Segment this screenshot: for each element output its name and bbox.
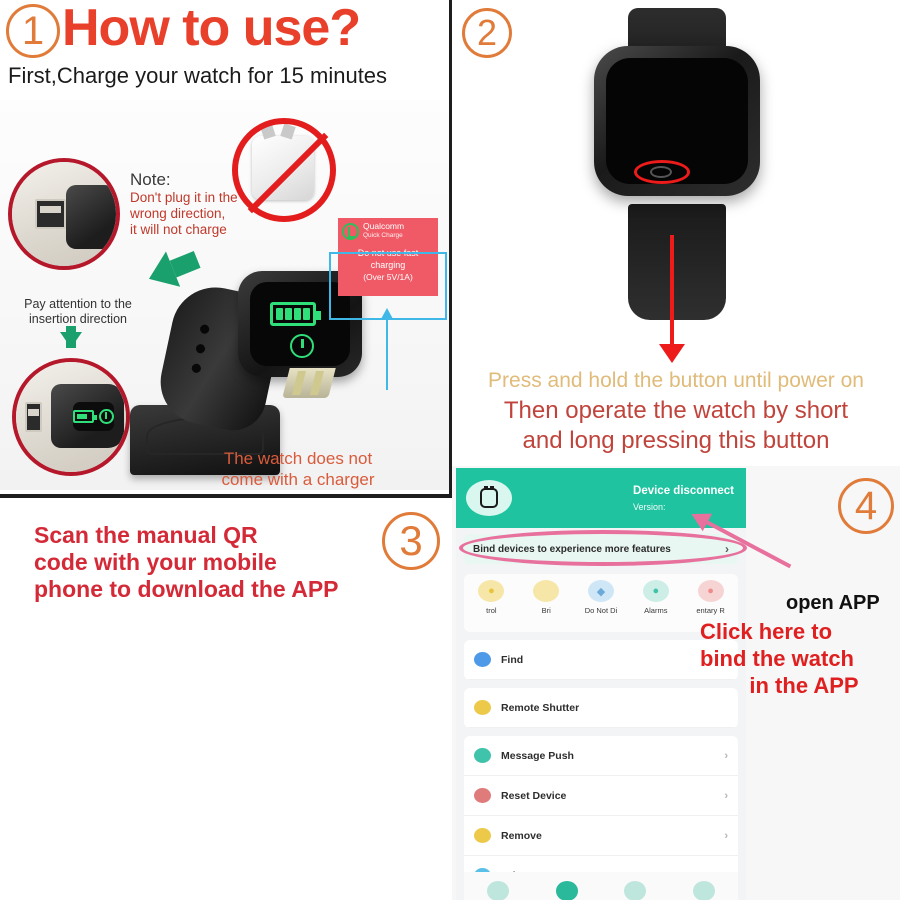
quick-icon-label: trol	[464, 606, 518, 615]
quick-icon-label: Do Not Di	[574, 606, 628, 615]
chevron-right-icon: ›	[724, 750, 728, 762]
click-annotation-line-3: in the APP	[700, 672, 900, 699]
usb-port-icon	[35, 199, 66, 228]
chevron-right-icon: ›	[724, 790, 728, 802]
list-item-label: Remove	[501, 830, 542, 842]
qualcomm-logo-icon	[342, 223, 359, 240]
device-status: Device disconnect	[633, 485, 734, 497]
panel-2-line-2: Then operate the watch by short	[452, 396, 900, 426]
panel-3-line-2: code with your mobile	[34, 549, 394, 576]
prohibition-symbol	[232, 118, 336, 222]
list-item[interactable]: Remote Shutter	[464, 688, 738, 728]
sedentary-reminder-icon: ●	[698, 580, 724, 602]
panel-1-charging-photo: Note: Don't plug it in thewrong directio…	[0, 100, 449, 490]
reset-icon	[474, 788, 491, 803]
click-annotation-line-2: bind the watch	[700, 645, 900, 672]
open-app-annotation: open APP	[786, 592, 880, 615]
insertion-direction-note: Pay attention to theinsertion direction	[8, 297, 148, 327]
list-item[interactable]: Find	[464, 640, 738, 680]
app-list-group: Find	[464, 640, 738, 680]
pink-ellipse-highlight	[459, 530, 747, 566]
quick-icon-cell[interactable]: ◆Do Not Di	[574, 580, 628, 615]
quick-icon-label: Alarms	[629, 606, 683, 615]
instruction-sheet: Note: Don't plug it in thewrong directio…	[0, 0, 900, 900]
panel-1-how-to-use: Note: Don't plug it in thewrong directio…	[0, 0, 449, 497]
step-number-3: 3	[382, 512, 440, 570]
power-icon	[290, 334, 314, 358]
usb-wrong-direction-inset	[8, 158, 120, 270]
battery-charging-icon	[270, 302, 316, 326]
qc-brand-name: Qualcomm	[363, 221, 404, 231]
list-item[interactable]: Reset Device›	[464, 776, 738, 816]
usb-contacts	[282, 368, 335, 398]
nav-sport-icon[interactable]	[556, 881, 578, 900]
quick-icon-label: entary R	[684, 606, 738, 615]
app-settings-list: FindRemote ShutterMessage Push›Reset Dev…	[464, 640, 738, 900]
quick-icon-cell[interactable]: ●entary R	[684, 580, 738, 615]
watch-mini-screen	[73, 402, 114, 431]
red-arrow-down-icon	[670, 235, 674, 345]
quick-charge-brand: Qualcomm Quick Charge	[342, 222, 434, 240]
note-body: Don't plug it in thewrong direction,it w…	[130, 190, 238, 238]
no-charger-included-note: The watch does notcome with a charger	[148, 448, 448, 490]
step-number-2: 2	[462, 8, 512, 58]
panel-3-line-1: Scan the manual QR	[34, 522, 394, 549]
brightness-icon: ●	[478, 580, 504, 602]
unlink-icon	[474, 828, 491, 843]
panel-2-instruction: Then operate the watch by short and long…	[452, 396, 900, 456]
no-fast-charger-icon	[232, 118, 336, 222]
quick-icon-cell[interactable]: Bri	[519, 580, 573, 615]
green-arrow-down-icon	[60, 332, 82, 348]
message-push-icon	[474, 748, 491, 763]
quick-icon-cell[interactable]: ●Alarms	[629, 580, 683, 615]
qc-brand-sub: Quick Charge	[363, 231, 404, 240]
alarm-icon: ●	[643, 580, 669, 602]
note-heading: Note:	[130, 172, 238, 188]
battery-icon	[73, 410, 94, 423]
usb-correct-direction-inset	[12, 358, 130, 476]
app-list-group: Remote Shutter	[464, 688, 738, 728]
nav-device-icon[interactable]	[487, 881, 509, 900]
list-item-label: Reset Device	[501, 790, 566, 802]
panel-2-line-3: and long pressing this button	[452, 426, 900, 456]
page-title: How to use?	[62, 0, 360, 58]
red-ellipse-highlight	[634, 160, 690, 184]
brightness-icon	[533, 580, 559, 602]
app-bottom-nav	[464, 872, 738, 900]
chevron-right-icon: ›	[724, 830, 728, 842]
quick-icon-cell[interactable]: ●trol	[464, 580, 518, 615]
quick-icon-label: Bri	[519, 606, 573, 615]
app-header-text: Device disconnect Version:	[633, 485, 736, 512]
usb-port-icon	[25, 402, 43, 433]
find-icon	[474, 652, 491, 667]
do-not-disturb-icon: ◆	[588, 580, 614, 602]
click-annotation-line-1: Click here to	[700, 618, 900, 645]
watch-band-bottom	[628, 204, 726, 320]
watch-icon	[466, 480, 512, 516]
watch-front-illustration	[572, 8, 782, 338]
quick-icon-row: ●trolBri◆Do Not Di●Alarms●entary R	[464, 574, 738, 632]
watch-plug	[51, 384, 124, 448]
power-icon	[99, 409, 113, 424]
panel-2-line-1: Press and hold the button until power on	[452, 368, 900, 394]
panel-divider-vertical-bottom	[449, 498, 452, 900]
panel-1-subtitle: First,Charge your watch for 15 minutes	[8, 62, 387, 90]
panel-3-line-3: phone to download the APP	[34, 576, 394, 603]
watch-plug	[66, 185, 120, 249]
blue-arrow-icon	[386, 318, 388, 390]
list-item-label: Message Push	[501, 750, 574, 762]
panel-3-title: Scan the manual QR code with your mobile…	[34, 522, 394, 603]
wrong-direction-note: Note: Don't plug it in thewrong directio…	[130, 172, 238, 238]
step-number-1: 1	[6, 4, 60, 58]
nav-profile-icon[interactable]	[693, 881, 715, 900]
version-label: Version:	[633, 502, 734, 512]
step-number-4: 4	[838, 478, 894, 534]
list-item-label: Find	[501, 654, 523, 666]
panel-divider-horizontal	[0, 494, 452, 498]
list-item-label: Remote Shutter	[501, 702, 579, 714]
list-item[interactable]: Remove›	[464, 816, 738, 856]
list-item[interactable]: Message Push›	[464, 736, 738, 776]
quick-charge-brand-text: Qualcomm Quick Charge	[363, 222, 404, 240]
camera-icon	[474, 700, 491, 715]
nav-data-icon[interactable]	[624, 881, 646, 900]
click-here-annotation: Click here to bind the watch in the APP	[700, 618, 900, 699]
